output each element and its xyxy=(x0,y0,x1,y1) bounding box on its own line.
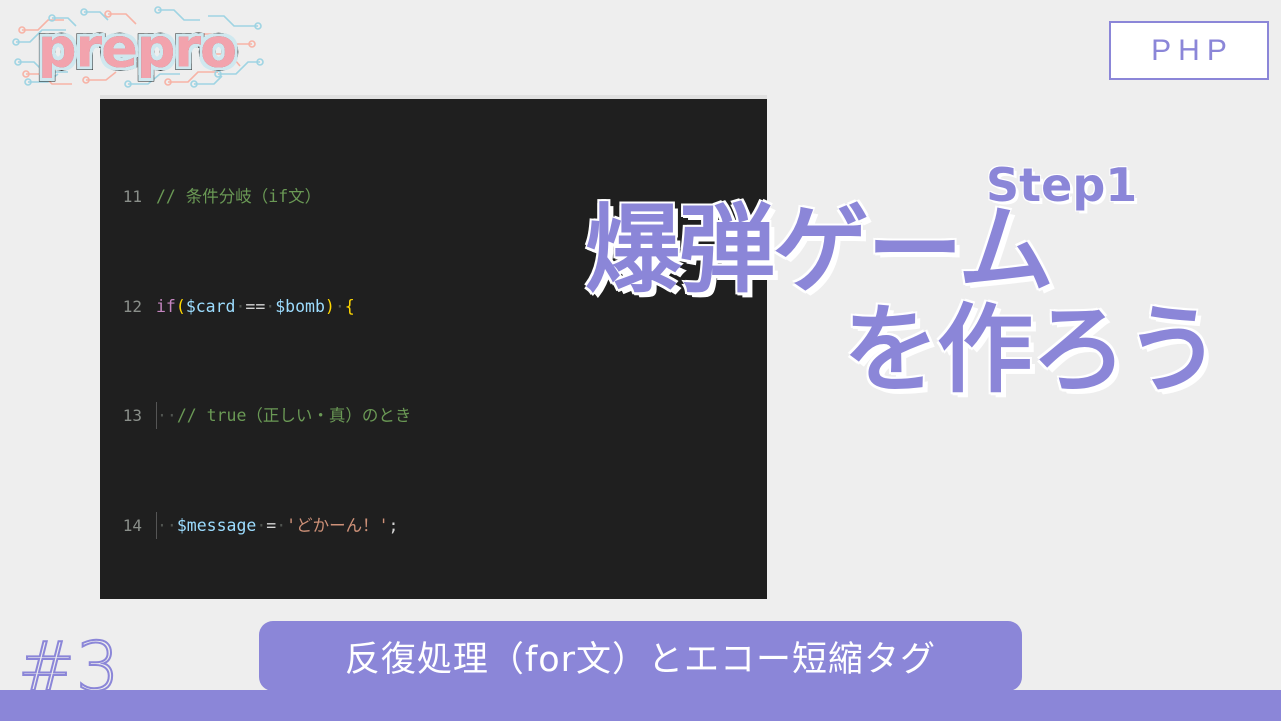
token-variable: $message xyxy=(177,516,256,535)
page-title-line2: を作ろう xyxy=(585,300,1225,400)
token-comment: // true（正しい・真）のとき xyxy=(177,406,412,425)
token-operator: = xyxy=(266,516,276,535)
line-source: ··$message·=·'どかーん！'; xyxy=(156,512,767,539)
token-paren: ( xyxy=(176,297,186,316)
token-brace: { xyxy=(345,297,355,316)
token-operator: == xyxy=(245,297,265,316)
token-string: 'どかーん！' xyxy=(286,516,388,535)
subtitle-banner: 反復処理（for文）とエコー短縮タグ xyxy=(259,621,1022,691)
brand-logo: prepro prepro xyxy=(8,4,266,92)
subtitle-text: 反復処理（for文）とエコー短縮タグ xyxy=(345,631,936,682)
brand-logo-text: prepro xyxy=(38,17,236,80)
line-number: 13 xyxy=(100,402,156,429)
php-badge-label: PHP xyxy=(1144,34,1234,68)
token-semicolon: ; xyxy=(389,516,399,535)
page-title-line1: 爆弾ゲーム xyxy=(585,194,1052,306)
code-line: 13 ··// true（正しい・真）のとき xyxy=(100,402,767,429)
php-language-badge: PHP xyxy=(1109,21,1269,80)
token-variable: $card xyxy=(186,297,236,316)
line-number: 12 xyxy=(100,293,156,320)
bottom-accent-bar xyxy=(0,690,1281,721)
token-paren: ) xyxy=(325,297,335,316)
line-number: 14 xyxy=(100,512,156,539)
token-variable: $bomb xyxy=(275,297,325,316)
token-comment: // 条件分岐（if文） xyxy=(156,187,321,206)
line-source: ··// true（正しい・真）のとき xyxy=(156,402,767,429)
code-line: 14 ··$message·=·'どかーん！'; xyxy=(100,512,767,539)
token-keyword: if xyxy=(156,297,176,316)
line-number: 11 xyxy=(100,183,156,210)
page-title: 爆弾ゲーム を作ろう xyxy=(585,200,1225,400)
